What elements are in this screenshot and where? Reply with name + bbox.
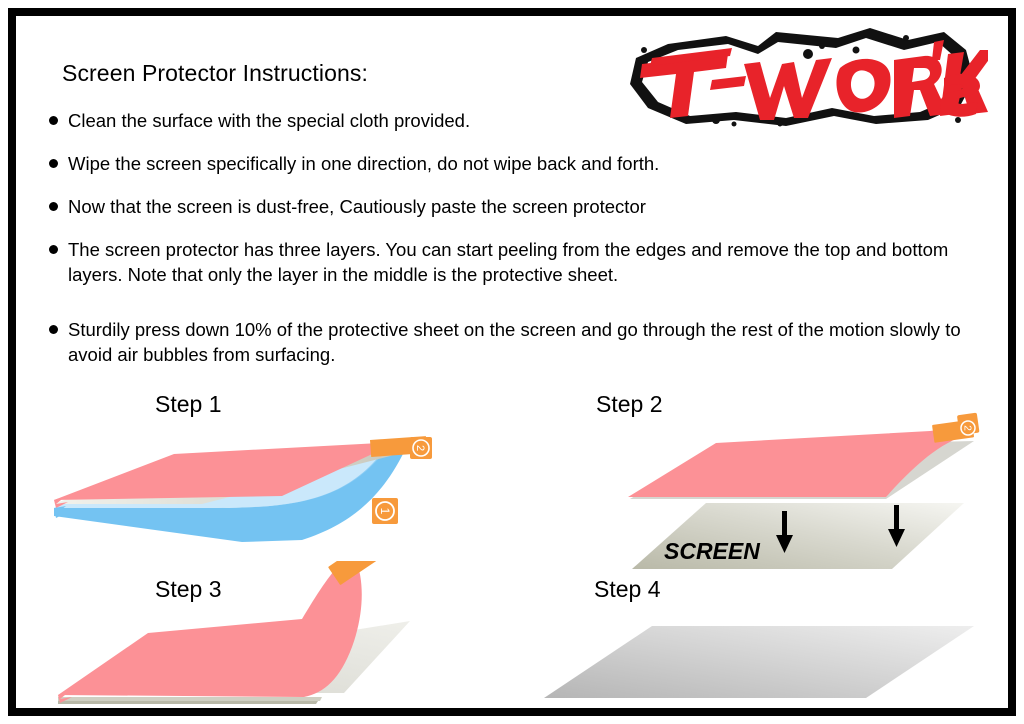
tab-1: 1 <box>372 498 398 524</box>
list-item: Clean the surface with the special cloth… <box>40 108 990 133</box>
black-border-frame: Screen Protector Instructions: Clean the… <box>8 8 1016 716</box>
list-item-text: Clean the surface with the special cloth… <box>68 110 470 131</box>
tab-number: 2 <box>962 425 973 431</box>
bullet-dot-icon <box>49 202 58 211</box>
step-1-label: Step 1 <box>155 391 222 418</box>
tab-2: 2 <box>932 413 980 443</box>
top-layer-pink <box>58 561 362 697</box>
sheet-content: Screen Protector Instructions: Clean the… <box>16 16 1008 708</box>
bullet-dot-icon <box>49 245 58 254</box>
screen-label: SCREEN <box>664 538 760 564</box>
step-2-illustration: 2 SCREEN <box>586 411 986 581</box>
step-3-illustration: 2 <box>52 561 452 708</box>
list-item-text: Sturdily press down 10% of the protectiv… <box>68 319 961 365</box>
list-item: Now that the screen is dust-free, Cautio… <box>40 194 990 219</box>
step-1-illustration: 2 1 <box>52 416 432 556</box>
bullet-dot-icon <box>49 325 58 334</box>
instruction-sheet: Screen Protector Instructions: Clean the… <box>0 0 1024 724</box>
list-item-text: The screen protector has three layers. Y… <box>68 239 948 285</box>
page-title: Screen Protector Instructions: <box>62 60 368 87</box>
instruction-list: Clean the surface with the special cloth… <box>40 108 990 385</box>
bullet-dot-icon <box>49 116 58 125</box>
list-item-text: Wipe the screen specifically in one dire… <box>68 153 659 174</box>
list-item: Wipe the screen specifically in one dire… <box>40 151 990 176</box>
tab-number: 2 <box>414 445 426 451</box>
list-item-text: Now that the screen is dust-free, Cautio… <box>68 196 646 217</box>
list-item: Sturdily press down 10% of the protectiv… <box>40 317 990 367</box>
bullet-dot-icon <box>49 159 58 168</box>
screen-surface <box>544 626 974 698</box>
step-4-illustration <box>536 606 986 708</box>
tab-number: 1 <box>378 508 392 515</box>
list-item: The screen protector has three layers. Y… <box>40 237 990 287</box>
